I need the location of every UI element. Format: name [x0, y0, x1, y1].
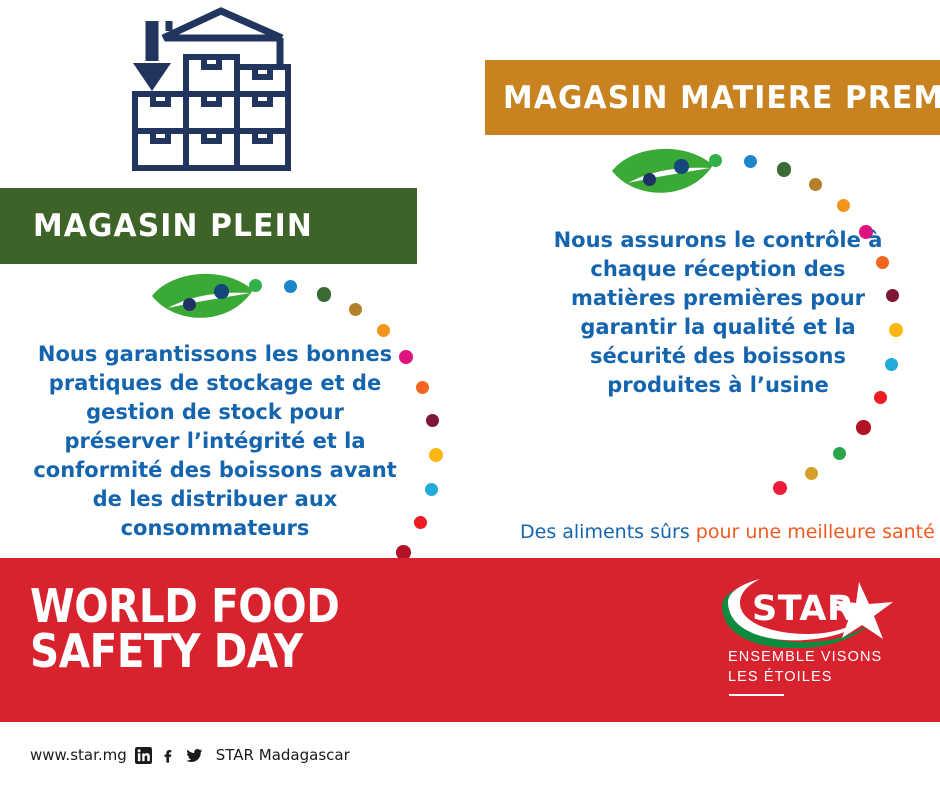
arc-dot: [643, 173, 656, 186]
arc-dot: [317, 287, 332, 302]
right-panel-body-text: Nous assurons le contrôle à chaque récep…: [543, 226, 893, 400]
arc-dot: [837, 199, 850, 212]
arc-dot: [249, 279, 262, 292]
star-logo: STAR ENSEMBLE VISONS LES ÉTOILES: [718, 576, 918, 706]
band-magasin-plein: MAGASIN PLEIN: [0, 188, 417, 264]
arc-dot: [809, 178, 822, 191]
green-leaf-icon: [610, 143, 715, 203]
arc-dot: [416, 381, 429, 394]
left-panel-body-text: Nous garantissons les bonnes pratiques d…: [30, 340, 400, 543]
arc-dot: [805, 467, 818, 480]
band-green-label: MAGASIN PLEIN: [33, 208, 313, 244]
social-handle[interactable]: STAR Madagascar: [216, 746, 350, 764]
facebook-icon[interactable]: [160, 747, 177, 764]
arc-dot: [399, 350, 414, 365]
wfsd-title-line1: WORLD FOOD: [30, 584, 339, 629]
star-brand-mark: STAR: [718, 576, 898, 648]
wfsd-title-line2: SAFETY DAY: [30, 629, 339, 674]
world-food-safety-day-banner: WORLD FOOD SAFETY DAY STAR: [0, 558, 940, 722]
arc-dot: [425, 483, 438, 496]
arc-dot: [777, 162, 792, 177]
arc-dot: [773, 481, 788, 496]
tagline-orange-part: pour une meilleure santé: [696, 521, 935, 543]
band-magasin-matiere-premiere: MAGASIN MATIERE PREMIÈRE: [485, 60, 940, 135]
band-orange-label: MAGASIN MATIERE PREMIÈRE: [503, 80, 940, 116]
arc-dot: [414, 516, 427, 529]
arc-dot: [833, 447, 846, 460]
arc-dot: [214, 284, 229, 299]
arc-dot: [183, 298, 196, 311]
poster-canvas: MAGASIN MATIERE PREMIÈRE MAGASIN PLEIN N…: [0, 0, 940, 788]
twitter-icon[interactable]: [185, 747, 204, 764]
tagline: Des aliments sûrs pour une meilleure san…: [520, 521, 935, 543]
warehouse-boxes-icon: [125, 5, 305, 175]
arc-dot: [744, 155, 757, 168]
star-tagline-line1: ENSEMBLE VISONS: [728, 648, 882, 668]
star-tagline: ENSEMBLE VISONS LES ÉTOILES: [728, 648, 882, 687]
arc-dot: [856, 420, 871, 435]
footer-bar: www.star.mg STAR Madagascar: [0, 722, 940, 788]
star-wordmark: STAR: [752, 589, 854, 629]
arc-dot: [349, 303, 362, 316]
tagline-blue-part: Des aliments sûrs: [520, 521, 690, 543]
star-tagline-line2: LES ÉTOILES: [728, 668, 882, 688]
star-tagline-rule: [729, 694, 784, 696]
green-leaf-icon: [150, 268, 255, 328]
arc-dot: [674, 159, 689, 174]
arc-dot: [429, 448, 444, 463]
page-title: WORLD FOOD SAFETY DAY: [30, 584, 339, 674]
arc-dot: [377, 324, 390, 337]
arc-dot: [426, 414, 439, 427]
arc-dot: [284, 280, 297, 293]
linkedin-icon[interactable]: [135, 747, 152, 764]
arc-dot: [709, 154, 722, 167]
website-url[interactable]: www.star.mg: [30, 746, 127, 764]
